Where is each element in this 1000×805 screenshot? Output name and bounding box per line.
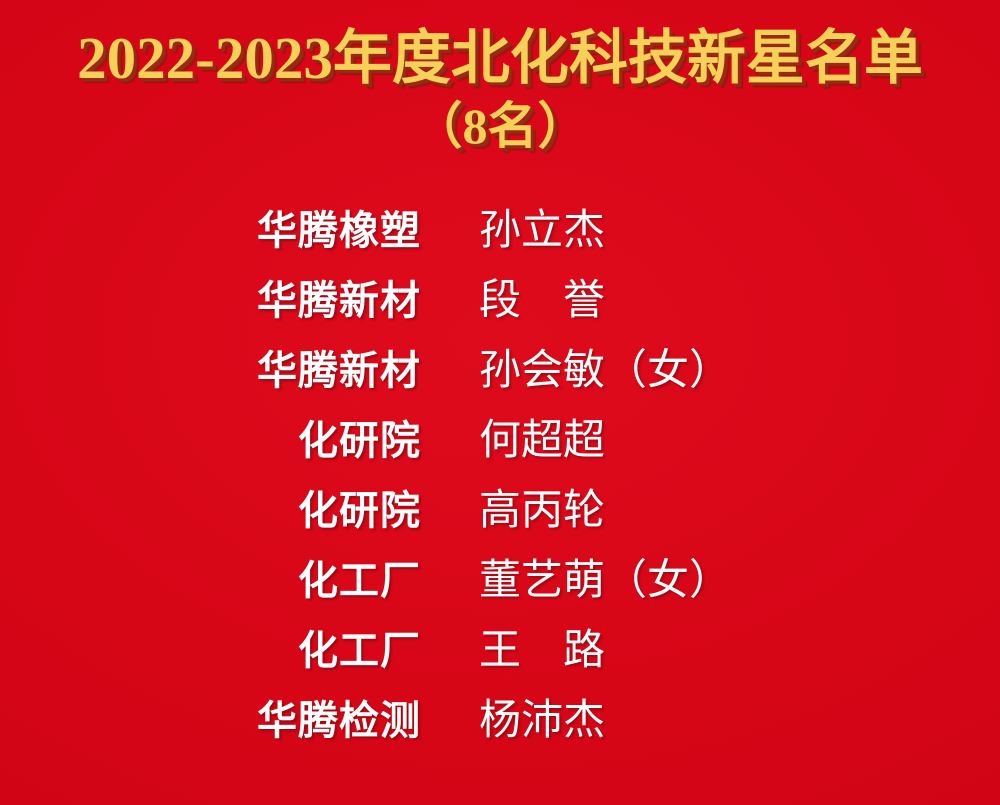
roster-org-name: 化研院 bbox=[221, 406, 421, 476]
roster-org-name: 华腾新材 bbox=[221, 266, 421, 336]
roster-org-name: 化工厂 bbox=[221, 546, 421, 616]
roster-person-name: 段誉 bbox=[479, 266, 779, 336]
roster-org-name: 华腾新材 bbox=[221, 336, 421, 406]
poster-title-block: 2022-2023年度北化科技新星名单 （8名） bbox=[0, 22, 1000, 156]
person-name-text: 段誉 bbox=[479, 266, 647, 336]
person-gender-suffix: （女） bbox=[605, 558, 731, 604]
page-subtitle-count: （8名） bbox=[0, 96, 1000, 156]
roster-org-name: 化工厂 bbox=[221, 616, 421, 686]
roster-row: 化研院高丙轮 bbox=[0, 476, 1000, 546]
roster-row: 化研院何超超 bbox=[0, 406, 1000, 476]
person-name-text: 高丙轮 bbox=[479, 488, 605, 534]
roster-row: 化工厂王路 bbox=[0, 616, 1000, 686]
roster-person-name: 孙会敏（女） bbox=[479, 336, 779, 406]
roster-person-name: 王路 bbox=[479, 616, 779, 686]
roster-row: 化工厂董艺萌（女） bbox=[0, 546, 1000, 616]
person-name-text: 何超超 bbox=[479, 418, 605, 464]
person-gender-suffix: （女） bbox=[605, 348, 731, 394]
person-name-text: 杨沛杰 bbox=[479, 698, 605, 744]
roster-row: 华腾检测杨沛杰 bbox=[0, 686, 1000, 756]
person-name-text: 孙立杰 bbox=[479, 208, 605, 254]
person-name-text: 董艺萌 bbox=[479, 558, 605, 604]
roster-person-name: 董艺萌（女） bbox=[479, 546, 779, 616]
person-name-text: 王路 bbox=[479, 616, 647, 686]
roster-row: 华腾新材孙会敏（女） bbox=[0, 336, 1000, 406]
roster-org-name: 华腾检测 bbox=[221, 686, 421, 756]
roster-person-name: 孙立杰 bbox=[479, 196, 779, 266]
roster-person-name: 高丙轮 bbox=[479, 476, 779, 546]
roster-list: 华腾橡塑孙立杰华腾新材段誉华腾新材孙会敏（女）化研院何超超化研院高丙轮化工厂董艺… bbox=[0, 196, 1000, 756]
roster-person-name: 何超超 bbox=[479, 406, 779, 476]
page-title: 2022-2023年度北化科技新星名单 bbox=[0, 22, 1000, 94]
person-name-text: 孙会敏 bbox=[479, 348, 605, 394]
roster-org-name: 化研院 bbox=[221, 476, 421, 546]
poster-canvas: 2022-2023年度北化科技新星名单 （8名） 华腾橡塑孙立杰华腾新材段誉华腾… bbox=[0, 0, 1000, 805]
roster-org-name: 华腾橡塑 bbox=[221, 196, 421, 266]
roster-person-name: 杨沛杰 bbox=[479, 686, 779, 756]
roster-row: 华腾橡塑孙立杰 bbox=[0, 196, 1000, 266]
roster-row: 华腾新材段誉 bbox=[0, 266, 1000, 336]
